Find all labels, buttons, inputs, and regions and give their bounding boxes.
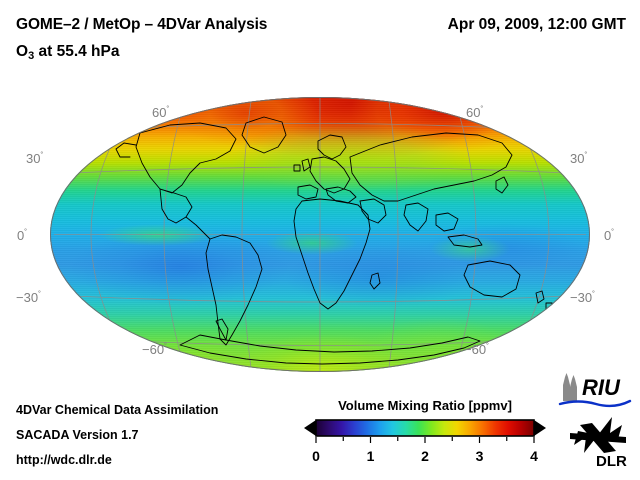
riu-logo-text: RIU bbox=[582, 375, 621, 400]
cathedral-spires-icon bbox=[563, 373, 577, 401]
colorbar-over-arrow bbox=[534, 420, 546, 436]
colorbar-minor-ticks bbox=[316, 437, 534, 443]
colorbar-tick-0: 0 bbox=[312, 448, 320, 464]
colorbar-graphic bbox=[300, 418, 550, 446]
lat-label-60n-right: 60˚ bbox=[466, 105, 483, 120]
colorbar-tick-1: 1 bbox=[367, 448, 375, 464]
rhine-wave-icon bbox=[560, 401, 630, 406]
colorbar-tick-labels: 0 1 2 3 4 bbox=[300, 448, 550, 470]
footer-project-label: 4DVar Chemical Data Assimilation bbox=[16, 403, 218, 417]
colorbar: Volume Mixing Ratio [ppmv] bbox=[300, 398, 550, 473]
species-level-label: O3 at 55.4 hPa bbox=[16, 43, 119, 62]
colorbar-gradient bbox=[316, 420, 534, 436]
mollweide-globe bbox=[50, 97, 590, 372]
ozone-map-panel: 60˚ 60˚ 30˚ 30˚ 0˚ 0˚ −30˚ −30˚ −60˚ −60… bbox=[0, 80, 640, 380]
timestamp-label: Apr 09, 2009, 12:00 GMT bbox=[448, 16, 626, 34]
colorbar-tick-4: 4 bbox=[530, 448, 538, 464]
lat-label-30n-left: 30˚ bbox=[26, 151, 43, 166]
species-symbol: O bbox=[16, 43, 28, 60]
riu-logo: RIU bbox=[556, 371, 634, 411]
dlr-logo-text: DLR bbox=[596, 453, 627, 469]
lat-label-30s-right: −30˚ bbox=[570, 290, 595, 305]
species-level-text: at 55.4 hPa bbox=[34, 43, 119, 60]
footer-version-label: SACADA Version 1.7 bbox=[16, 428, 139, 442]
colorbar-tick-3: 3 bbox=[476, 448, 484, 464]
dlr-logo: DLR bbox=[562, 411, 634, 469]
colorbar-under-arrow bbox=[304, 420, 316, 436]
ozone-field bbox=[50, 97, 590, 372]
lat-label-0-right: 0˚ bbox=[604, 228, 614, 243]
lat-label-60s-left: −60˚ bbox=[142, 342, 167, 357]
ozone-field-texture bbox=[50, 97, 590, 372]
page-title: GOME–2 / MetOp – 4DVar Analysis bbox=[16, 16, 267, 34]
colorbar-tick-2: 2 bbox=[421, 448, 429, 464]
lat-label-0-left: 0˚ bbox=[17, 228, 27, 243]
colorbar-title: Volume Mixing Ratio [ppmv] bbox=[300, 398, 550, 413]
lat-label-60n-left: 60˚ bbox=[152, 105, 169, 120]
lat-label-30n-right: 30˚ bbox=[570, 151, 587, 166]
lat-label-30s-left: −30˚ bbox=[16, 290, 41, 305]
dlr-pinwheel-icon bbox=[570, 417, 626, 453]
lat-label-60s-right: −60˚ bbox=[464, 342, 489, 357]
footer-url-link[interactable]: http://wdc.dlr.de bbox=[16, 453, 112, 467]
